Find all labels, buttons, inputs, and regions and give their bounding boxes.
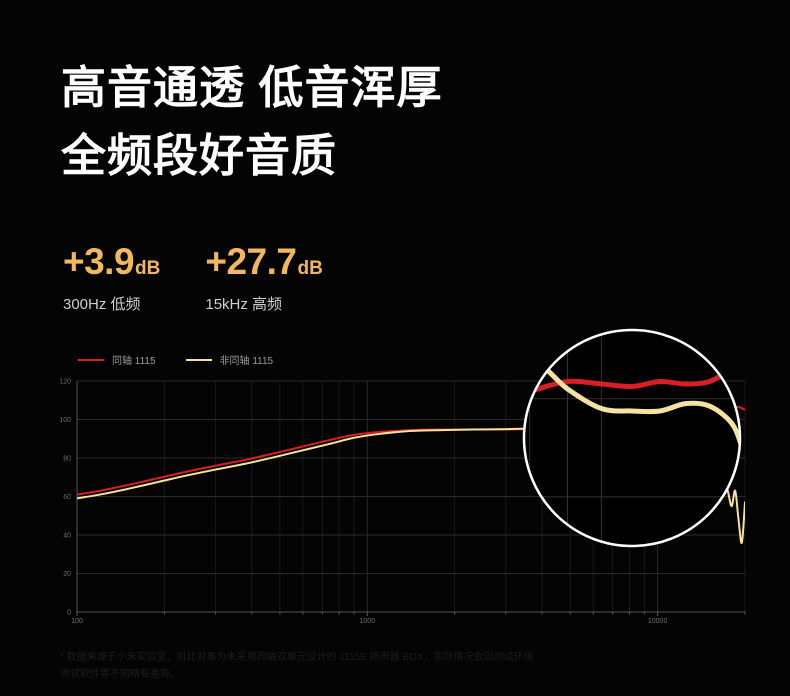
footnote: * 数据来源于小米实验室，对比对象为未采用同轴双单元设计的 1115E 扬声器 … xyxy=(60,649,760,683)
stat-bass-unit: dB xyxy=(135,258,160,279)
svg-text:20: 20 xyxy=(63,571,71,578)
legend-swatch-coaxial xyxy=(78,359,104,361)
legend-label-coaxial: 同轴 1115 xyxy=(112,352,156,367)
footnote-line-1: * 数据来源于小米实验室，对比对象为未采用同轴双单元设计的 1115E 扬声器 … xyxy=(60,649,760,666)
page-title: 高音通透 低音浑厚 全频段好音质 xyxy=(61,58,761,186)
stat-bass-value-group: +3.9dB xyxy=(63,243,160,280)
magnified-series-coaxial xyxy=(0,361,790,590)
stat-bass: +3.9dB 300Hz 低频 xyxy=(63,243,160,314)
stat-bass-caption: 300Hz 低频 xyxy=(63,293,160,314)
svg-text:60: 60 xyxy=(63,494,71,501)
stat-treble: +27.7dB 15kHz 高频 xyxy=(205,243,322,314)
stat-treble-unit: dB xyxy=(298,258,323,279)
legend-swatch-non-coaxial xyxy=(186,359,212,361)
svg-text:40: 40 xyxy=(63,533,71,540)
chart-tick-labels: 020406080100120100100010000 xyxy=(59,379,745,626)
footnote-line-2: 测试软件等不同略有差异。 xyxy=(60,666,760,683)
promo-page: 高音通透 低音浑厚 全频段好音质 +3.9dB 300Hz 低频 +27.7dB… xyxy=(0,0,790,696)
stat-bass-value: +3.9 xyxy=(63,241,134,282)
stat-treble-caption: 15kHz 高频 xyxy=(205,293,322,314)
headline-line-2: 全频段好音质 xyxy=(61,126,761,186)
magnifier-ring xyxy=(524,330,740,546)
series-non-coaxial xyxy=(77,404,745,543)
magnified-series-non-coaxial xyxy=(0,359,790,696)
chart-legend: 同轴 1115 非同轴 1115 xyxy=(78,352,273,367)
svg-text:1000: 1000 xyxy=(360,618,376,625)
svg-text:10000: 10000 xyxy=(648,618,668,625)
legend-label-non-coaxial: 非同轴 1115 xyxy=(220,352,274,367)
svg-text:120: 120 xyxy=(59,379,71,386)
legend-item-non-coaxial: 非同轴 1115 xyxy=(186,352,274,367)
svg-text:80: 80 xyxy=(63,456,71,463)
headline-line-1: 高音通透 低音浑厚 xyxy=(61,58,761,118)
chart-series xyxy=(77,404,745,543)
svg-text:100: 100 xyxy=(71,618,83,625)
series-coaxial xyxy=(77,405,745,495)
legend-item-coaxial: 同轴 1115 xyxy=(78,352,156,367)
stat-treble-value: +27.7 xyxy=(205,241,296,282)
chart-gridlines xyxy=(77,381,745,612)
svg-text:100: 100 xyxy=(59,417,71,424)
svg-text:0: 0 xyxy=(67,610,71,617)
stat-treble-value-group: +27.7dB xyxy=(205,243,322,280)
stats-row: +3.9dB 300Hz 低频 +27.7dB 15kHz 高频 xyxy=(63,243,323,314)
